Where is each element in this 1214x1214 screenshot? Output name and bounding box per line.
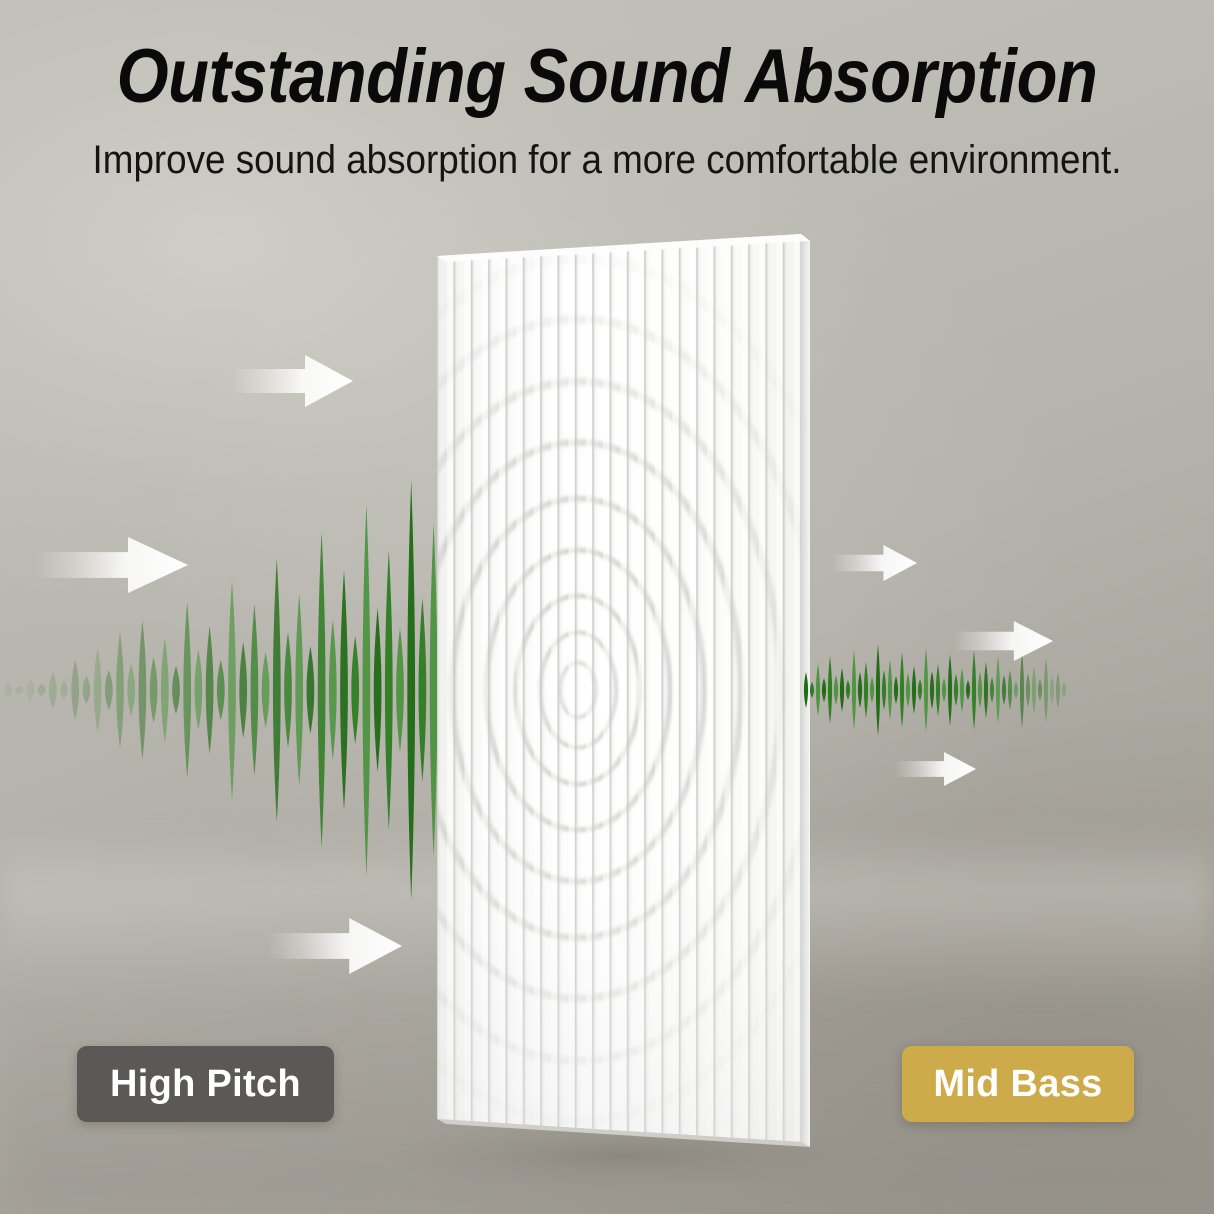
waveform-bar bbox=[116, 632, 124, 748]
label-high-pitch: High Pitch bbox=[77, 1046, 334, 1122]
waveform-bar bbox=[150, 657, 158, 723]
arrow-incoming-mid-left bbox=[38, 537, 188, 593]
arrow-outgoing-lower-right bbox=[896, 752, 976, 786]
waveform-bar bbox=[912, 666, 916, 714]
waveform-bar bbox=[828, 656, 832, 724]
waveform-bar bbox=[15, 686, 23, 694]
arrow-outgoing-mid-right bbox=[955, 621, 1053, 661]
waveform-bar bbox=[936, 664, 940, 716]
waveform-bar bbox=[4, 682, 12, 698]
waveform-bar bbox=[273, 558, 281, 822]
waveform-bar bbox=[351, 636, 359, 744]
waveform-bar bbox=[834, 675, 838, 705]
waveform-bar bbox=[1044, 658, 1048, 722]
waveform-bar bbox=[374, 608, 382, 772]
waveform-bar bbox=[105, 670, 113, 710]
waveform-bar bbox=[1014, 681, 1018, 699]
waveform-bar bbox=[882, 670, 886, 710]
waveform-bar bbox=[924, 648, 928, 732]
arrow-outgoing-upper-right bbox=[833, 545, 917, 581]
waveform-bar bbox=[363, 504, 371, 876]
waveform-bar bbox=[27, 678, 35, 702]
sound-absorption-illustration bbox=[0, 0, 1214, 1214]
waveform-bar bbox=[870, 677, 874, 703]
waveform-bar bbox=[840, 668, 844, 712]
waveform-bar bbox=[172, 666, 180, 714]
waveform-bar bbox=[900, 652, 904, 728]
arrow-incoming-lower-left bbox=[270, 918, 402, 974]
waveform-bar bbox=[918, 679, 922, 701]
waveform-bar bbox=[888, 660, 892, 720]
waveform-bar bbox=[396, 628, 404, 752]
waveform-bar bbox=[948, 654, 952, 726]
waveform-bar bbox=[340, 570, 348, 810]
waveform-bar bbox=[906, 673, 910, 707]
waveform-bar bbox=[930, 671, 934, 709]
waveform-bar bbox=[876, 644, 880, 736]
waveform-bar bbox=[206, 626, 214, 754]
waveform-bar bbox=[183, 602, 191, 778]
waveform-bar bbox=[852, 650, 856, 730]
waveform-bar bbox=[846, 680, 850, 700]
waveform-bar bbox=[161, 638, 169, 742]
waveform-bar bbox=[139, 620, 147, 760]
waveform-bar bbox=[284, 632, 292, 748]
waveform-bar bbox=[954, 674, 958, 706]
waveform-bar bbox=[894, 676, 898, 704]
waveform-bar bbox=[1002, 675, 1006, 705]
waveform-bar bbox=[1038, 679, 1042, 701]
waveform-bar bbox=[329, 620, 337, 760]
waveform-bar bbox=[822, 678, 826, 702]
waveform-bar bbox=[407, 480, 415, 900]
arrow-incoming-upper-left bbox=[233, 355, 353, 407]
waveform-bar bbox=[195, 650, 203, 730]
waveform-bar bbox=[60, 681, 68, 699]
waveform-bar bbox=[1020, 652, 1024, 728]
label-high-pitch-text: High Pitch bbox=[110, 1063, 301, 1106]
transmitted-waveform-right bbox=[804, 644, 1066, 736]
waveform-bar bbox=[385, 550, 393, 830]
waveform-bar bbox=[239, 642, 247, 738]
waveform-bar bbox=[1050, 676, 1054, 704]
label-mid-bass-text: Mid Bass bbox=[933, 1063, 1102, 1106]
waveform-bar bbox=[858, 672, 862, 708]
waveform-bar bbox=[1008, 670, 1012, 710]
waveform-bar bbox=[942, 678, 946, 702]
infographic-canvas: Outstanding Sound Absorption Improve sou… bbox=[0, 0, 1214, 1214]
waveform-bar bbox=[960, 668, 964, 712]
waveform-bar bbox=[295, 594, 303, 786]
waveform-bar bbox=[1062, 682, 1066, 698]
waveform-bar bbox=[864, 662, 868, 718]
waveform-bar bbox=[38, 684, 46, 696]
waveform-bar bbox=[972, 650, 976, 730]
waveform-bar bbox=[996, 656, 1000, 724]
waveform-bar bbox=[83, 676, 91, 704]
waveform-bar bbox=[307, 646, 315, 734]
waveform-bar bbox=[816, 664, 820, 716]
waveform-bar bbox=[1026, 673, 1030, 707]
waveform-bar bbox=[127, 664, 135, 716]
waveform-bar bbox=[990, 677, 994, 703]
waveform-bar bbox=[984, 662, 988, 718]
waveform-bar bbox=[217, 660, 225, 720]
waveform-bar bbox=[49, 672, 57, 708]
waveform-bar bbox=[1056, 672, 1060, 708]
waveform-bar bbox=[71, 660, 79, 720]
waveform-bar bbox=[966, 680, 970, 700]
label-mid-bass: Mid Bass bbox=[902, 1046, 1134, 1122]
waveform-bar bbox=[262, 652, 270, 728]
waveform-bar bbox=[94, 648, 102, 732]
waveform-bar bbox=[228, 580, 236, 800]
waveform-bar bbox=[419, 598, 427, 782]
waveform-bar bbox=[430, 524, 438, 856]
waveform-bar bbox=[318, 532, 326, 848]
waveform-bar bbox=[251, 604, 259, 776]
waveform-bar bbox=[1032, 666, 1036, 714]
waveform-bar bbox=[978, 672, 982, 708]
waveform-bar bbox=[810, 682, 814, 698]
